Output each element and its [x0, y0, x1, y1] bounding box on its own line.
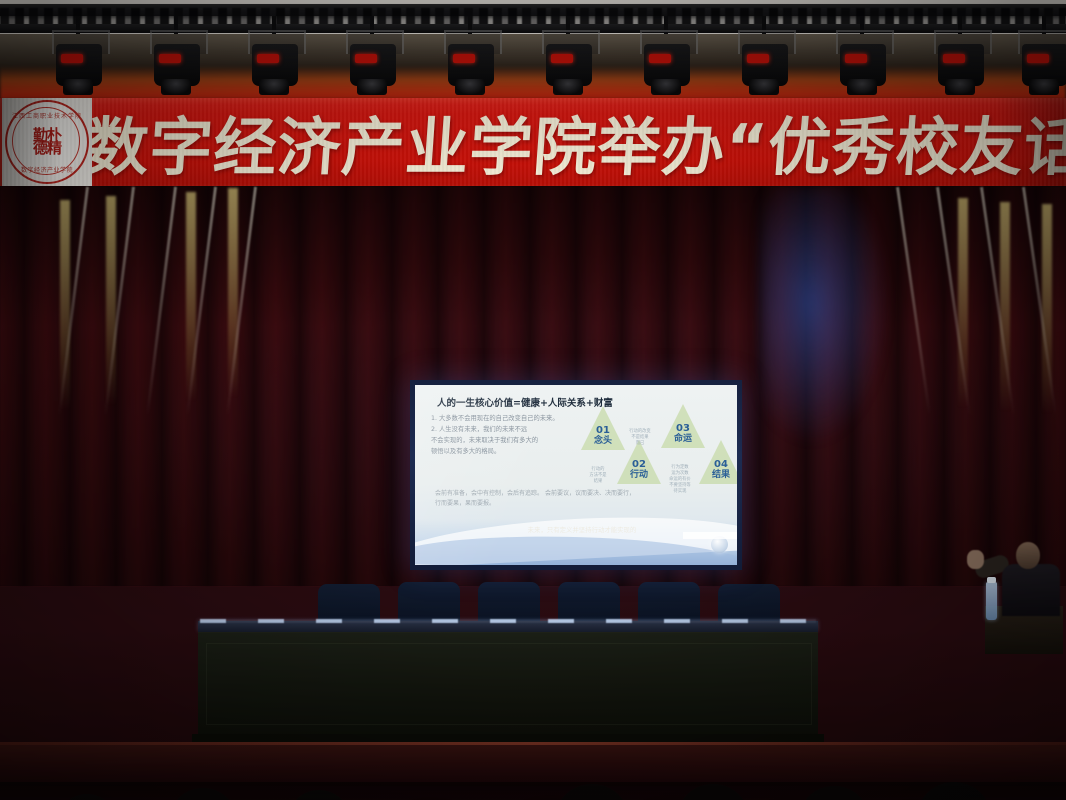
conference-table-reflection — [200, 619, 816, 623]
light-led-display — [257, 54, 279, 63]
audience-head — [288, 790, 350, 800]
conference-table-base — [192, 734, 824, 742]
stage-chair — [398, 582, 460, 624]
stage-chair — [318, 584, 380, 624]
speaker-body — [1002, 564, 1060, 616]
audience-head — [170, 788, 236, 800]
slide-step-02: 02 行动 — [619, 459, 659, 480]
stage-light-fixture — [46, 30, 112, 98]
light-lens — [161, 79, 191, 95]
light-led-display — [61, 54, 83, 63]
step-number: 02 — [619, 459, 659, 470]
light-lens — [1029, 79, 1059, 95]
ceiling-truss-area — [0, 0, 1066, 98]
event-banner: 数字经济产业学院举办“优秀校友话就业” 江西工商职业技术学院 勤朴德精 数字经济… — [0, 98, 1066, 186]
slide-body-line: 1. 大多数不会用现在的自己改变自己的未来。 — [431, 413, 583, 424]
stage-chair — [718, 584, 780, 624]
step-label: 结果 — [701, 470, 737, 480]
speaker-head — [1016, 542, 1040, 569]
light-lens — [847, 79, 877, 95]
light-lens — [63, 79, 93, 95]
stage-chair — [558, 582, 620, 624]
light-led-display — [1027, 54, 1049, 63]
stage-light-fixture — [536, 30, 602, 98]
light-led-display — [649, 54, 671, 63]
slide-step-03: 03 命运 — [663, 423, 703, 444]
light-lens — [553, 79, 583, 95]
light-led-display — [159, 54, 181, 63]
projection-screen: 人的一生核心价值=健康+人际关系+财富 1. 大多数不会用现在的自己改变自己的未… — [415, 385, 737, 565]
light-led-display — [355, 54, 377, 63]
slide-body-text: 1. 大多数不会用现在的自己改变自己的未来。 2. 人生没有未来，我们的未来不远… — [431, 413, 583, 457]
stage-light-fixture — [438, 30, 504, 98]
step-number: 01 — [583, 425, 623, 436]
audience-head — [556, 784, 628, 800]
step-number: 04 — [701, 459, 737, 470]
slide-body-line: 2. 人生没有未来，我们的未来不远 — [431, 424, 583, 435]
stage-chair — [478, 582, 540, 624]
auditorium-hall: 人的一生核心价值=健康+人际关系+财富 1. 大多数不会用现在的自己改变自己的未… — [0, 186, 1066, 800]
audience-head — [800, 786, 868, 800]
slide-step-note-03: 行为定数运为次数命运的有价不要坚持等待实现 — [663, 465, 697, 495]
audience-head — [58, 794, 116, 800]
stage-light-fixture — [1012, 30, 1066, 98]
light-led-display — [747, 54, 769, 63]
light-lens — [357, 79, 387, 95]
audience-seating: 3排 4排 5排 6排 7排 8排 9排 10排 — [0, 782, 1066, 800]
stage-apron — [0, 742, 1066, 786]
audience-head — [678, 784, 748, 800]
stage-light-fixture — [830, 30, 896, 98]
water-bottle-cap — [987, 577, 996, 583]
slide-step-note-01: 行动的方法不是结果 — [581, 467, 615, 485]
light-led-display — [943, 54, 965, 63]
step-label: 行动 — [619, 470, 659, 480]
light-lens — [651, 79, 681, 95]
blue-stage-wash-light — [760, 186, 890, 446]
stage-light-fixture — [634, 30, 700, 98]
speaker-hand — [967, 550, 984, 569]
slide-step-04: 04 结果 — [701, 459, 737, 480]
light-lens — [455, 79, 485, 95]
slide-step-note-02: 行动的改变不是结果而已 — [623, 429, 657, 447]
slide-footer-text: 会前有准备，会中有控制，会后有追踪。 会前要议，议而要决、决而要行，行而要果，果… — [435, 489, 635, 508]
light-lens — [259, 79, 289, 95]
banner-shadow-left — [0, 98, 60, 186]
light-led-display — [551, 54, 573, 63]
light-led-display — [845, 54, 867, 63]
water-bottle — [986, 582, 997, 620]
stage-light-fixture — [144, 30, 210, 98]
slide-step-01: 01 念头 — [583, 425, 623, 446]
light-lens — [749, 79, 779, 95]
banner-shadow-right — [996, 98, 1066, 186]
projection-screen-frame: 人的一生核心价值=健康+人际关系+财富 1. 大多数不会用现在的自己改变自己的未… — [410, 380, 742, 570]
light-led-display — [453, 54, 475, 63]
step-label: 念头 — [583, 436, 623, 446]
light-lens — [945, 79, 975, 95]
stage-light-fixture — [732, 30, 798, 98]
stage-light-fixture — [340, 30, 406, 98]
auditorium-photo: 数字经济产业学院举办“优秀校友话就业” 江西工商职业技术学院 勤朴德精 数字经济… — [0, 0, 1066, 800]
slide-footer-bar — [683, 532, 737, 539]
step-number: 03 — [663, 423, 703, 434]
audience-head — [918, 782, 990, 800]
slide-footer-line: 会前有准备，会中有控制，会后有追踪。 — [435, 490, 543, 497]
conference-table-front-panel — [198, 632, 818, 737]
stage-chair — [638, 582, 700, 624]
stage-light-fixture — [928, 30, 994, 98]
audience-shading — [0, 782, 1066, 800]
step-label: 命运 — [663, 434, 703, 444]
stage-light-fixture — [242, 30, 308, 98]
stage-apron-edge-light — [0, 742, 1066, 745]
slide-wave-decoration — [415, 519, 737, 565]
slide-body-line: 不会实现的，未来取决于我们有多大的 — [431, 435, 583, 446]
banner-headline: 数字经济产业学院举办“优秀校友话就业” — [83, 98, 1066, 186]
slide-body-line: 顿悟以及有多大的格局。 — [431, 446, 583, 457]
